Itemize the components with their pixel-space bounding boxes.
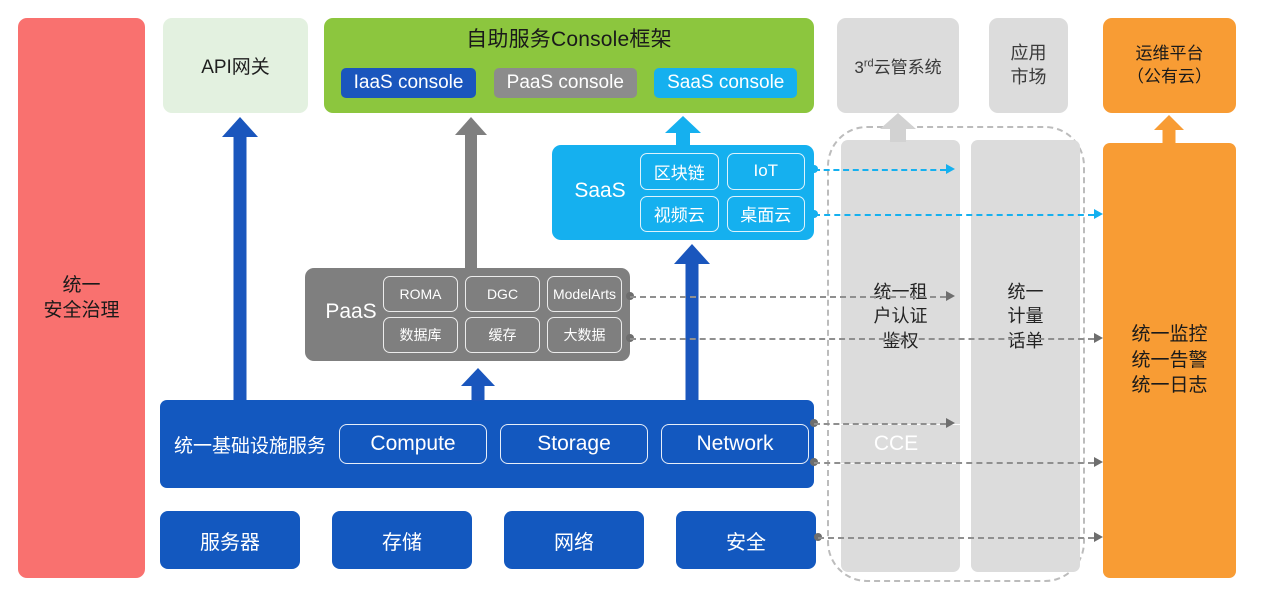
saas-item-video-cloud[interactable]: 视频云 [640, 196, 719, 233]
unified-infrastructure-block: 统一基础设施服务 Compute Storage Network CCE [160, 400, 814, 488]
arrow-shared-to-third-cloud [880, 113, 916, 142]
chip-saas-console[interactable]: SaaS console [654, 68, 797, 98]
security-line-2: 安全治理 [43, 298, 119, 323]
paas-block: PaaS ROMA DGC ModelArts 数据库 缓存 大数据 [305, 268, 630, 361]
console-chip-row: IaaS console PaaS console SaaS console [324, 68, 814, 98]
connector-resources-to-ops [818, 537, 1094, 539]
resource-item-network[interactable]: 网络 [504, 511, 644, 569]
resource-item-server[interactable]: 服务器 [160, 511, 300, 569]
api-gateway-block: API网关 [163, 18, 308, 113]
meter-line-2: 计量 [971, 304, 1080, 328]
arrow-infra-to-api-gateway [222, 117, 258, 400]
unified-metering-strip [971, 140, 1080, 572]
ops-line-1: 统一监控 [1131, 322, 1207, 347]
arrowhead-resources-to-ops [1094, 532, 1103, 542]
connector-infra-to-ops [814, 462, 1094, 464]
auth-line-1: 统一租 [841, 280, 960, 304]
resource-item-storage[interactable]: 存储 [332, 511, 472, 569]
connector-paas-to-ops [630, 338, 1094, 340]
arrow-saas-to-console [665, 116, 701, 146]
ops-line-3: 统一日志 [1131, 373, 1207, 398]
third-party-cloud-mgmt-block: 3rd云管系统 [837, 18, 959, 113]
saas-item-iot[interactable]: IoT [727, 153, 806, 190]
paas-item-cache[interactable]: 缓存 [465, 317, 540, 353]
ops-line-2: 统一告警 [1131, 348, 1207, 373]
saas-item-grid: 区块链 IoT 视频云 桌面云 [640, 153, 805, 232]
api-gateway-label: API网关 [201, 52, 270, 79]
auth-line-3: 鉴权 [841, 329, 960, 353]
ops-platform-block: 统一监控 统一告警 统一日志 [1103, 143, 1236, 578]
app-market-block: 应用 市场 [989, 18, 1068, 113]
resource-label-network: 网络 [554, 526, 594, 555]
app-market-line-1: 应用 [1011, 42, 1047, 65]
resource-item-security[interactable]: 安全 [676, 511, 816, 569]
infra-item-storage[interactable]: Storage [500, 424, 648, 464]
connector-paas-to-auth [630, 296, 946, 298]
connector-saas-to-auth [814, 169, 946, 171]
unified-metering-label: 统一 计量 话单 [971, 280, 1080, 353]
saas-title: SaaS [564, 179, 636, 203]
resource-label-security: 安全 [726, 526, 766, 555]
chip-paas-console[interactable]: PaaS console [494, 68, 637, 98]
unified-tenant-auth-label: 统一租 户认证 鉴权 [841, 280, 960, 353]
arrow-ops-column-to-header [1154, 115, 1184, 144]
arrowhead-paas-to-ops [1094, 333, 1103, 343]
console-framework-title: 自助服务Console框架 [324, 27, 814, 52]
paas-item-modelarts[interactable]: ModelArts [547, 276, 622, 312]
arrow-infra-to-saas [674, 244, 710, 400]
saas-block: SaaS 区块链 IoT 视频云 桌面云 [552, 145, 814, 240]
paas-title: PaaS [315, 300, 387, 324]
resource-label-server: 服务器 [200, 526, 260, 555]
ops-platform-line-2: （公有云） [1127, 66, 1212, 88]
ops-platform-header-block: 运维平台 （公有云） [1103, 18, 1236, 113]
infrastructure-label: 统一基础设施服务 [174, 431, 326, 458]
paas-item-bigdata[interactable]: 大数据 [547, 317, 622, 353]
console-framework-block: 自助服务Console框架 IaaS console PaaS console … [324, 18, 814, 113]
architecture-diagram: 统一 安全治理 API网关 自助服务Console框架 IaaS console… [0, 0, 1265, 605]
paas-item-dgc[interactable]: DGC [465, 276, 540, 312]
paas-item-roma[interactable]: ROMA [383, 276, 458, 312]
resource-label-storage: 存储 [382, 526, 422, 555]
saas-item-desktop-cloud[interactable]: 桌面云 [727, 196, 806, 233]
chip-iaas-console[interactable]: IaaS console [341, 68, 477, 98]
arrow-infra-to-paas [461, 368, 495, 401]
infra-item-network[interactable]: Network [661, 424, 809, 464]
unified-security-governance-block: 统一 安全治理 [18, 18, 145, 578]
third-cloud-superscript: rd [864, 57, 874, 69]
security-line-1: 统一 [43, 273, 119, 298]
arrowhead-saas-to-auth [946, 164, 955, 174]
meter-line-3: 话单 [971, 329, 1080, 353]
paas-item-database[interactable]: 数据库 [383, 317, 458, 353]
unified-tenant-auth-strip [841, 140, 960, 572]
auth-line-2: 户认证 [841, 304, 960, 328]
paas-item-grid: ROMA DGC ModelArts 数据库 缓存 大数据 [383, 276, 622, 353]
infrastructure-row: 统一基础设施服务 Compute Storage Network CCE [160, 400, 814, 488]
third-cloud-label: 3rd云管系统 [854, 53, 941, 78]
infra-item-cce[interactable]: CCE [822, 424, 970, 464]
ops-platform-line-1: 运维平台 [1127, 43, 1212, 65]
connector-infra-to-auth [814, 423, 946, 425]
saas-item-blockchain[interactable]: 区块链 [640, 153, 719, 190]
arrowhead-paas-to-auth [946, 291, 955, 301]
arrowhead-infra-to-ops [1094, 457, 1103, 467]
arrowhead-saas-to-ops [1094, 209, 1103, 219]
connector-saas-to-ops [814, 214, 1094, 216]
infra-item-compute[interactable]: Compute [339, 424, 487, 464]
meter-line-1: 统一 [971, 280, 1080, 304]
arrowhead-infra-to-auth [946, 418, 955, 428]
arrow-paas-to-console [455, 117, 487, 268]
app-market-line-2: 市场 [1011, 66, 1047, 89]
